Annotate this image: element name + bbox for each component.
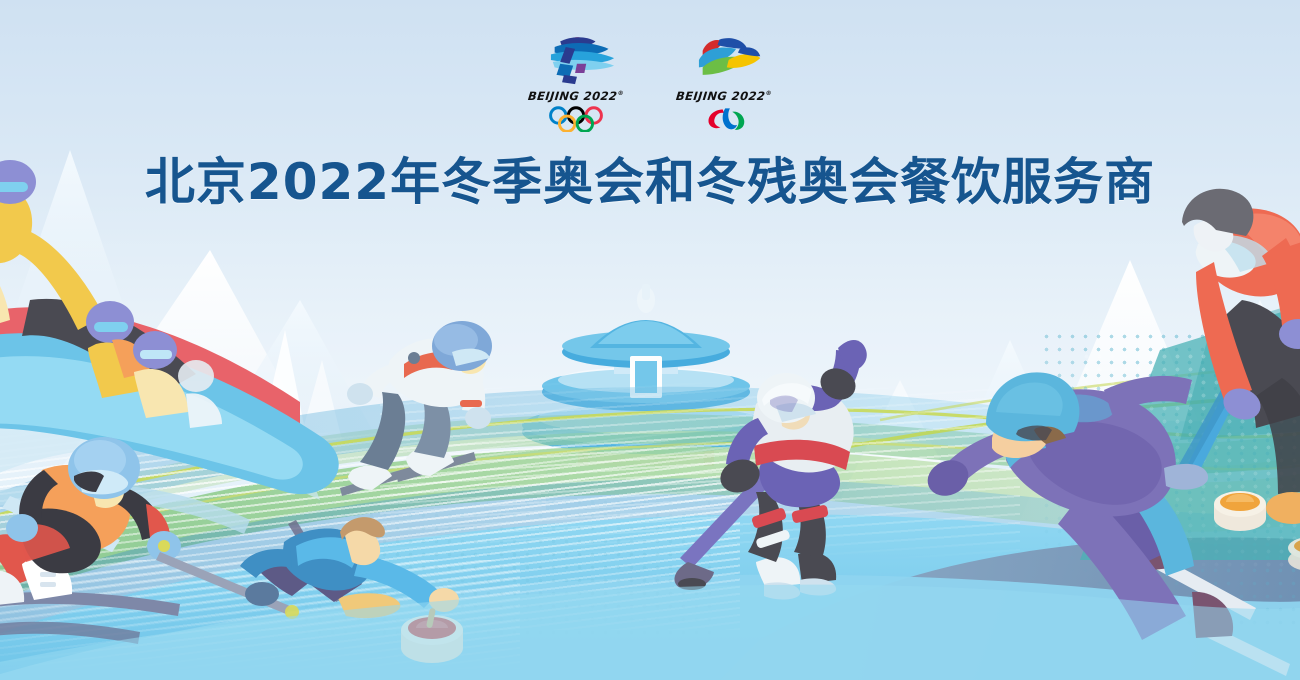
skater-glove-back: [347, 383, 373, 405]
paralympic-agitos-icon: [694, 106, 754, 132]
skater-face: [450, 340, 486, 374]
beijing-2022-paralympic-emblem-icon: [670, 34, 778, 86]
sweeper-face: [1194, 220, 1234, 252]
emblem-row: BEIJING 2022®: [0, 34, 1300, 132]
bobsleigh-rider-3: [133, 331, 188, 418]
halftone-dots-center: [300, 470, 720, 650]
bobsleigh-rail: [0, 307, 300, 430]
sweeper-torso-shade: [1234, 214, 1300, 254]
skater-helmet: [432, 321, 492, 371]
temple-roof-upper: [562, 336, 730, 368]
sweeper-torso: [1198, 208, 1300, 296]
bobsleigh-cockpit: [22, 299, 196, 400]
olympic-rings-icon: [533, 106, 619, 132]
olympic-banner: BEIJING 2022®: [0, 0, 1300, 680]
olympic-emblem-block: BEIJING 2022®: [521, 34, 631, 132]
beijing-2022-olympic-emblem-icon: [522, 34, 630, 86]
mountain-spike-a: [262, 330, 305, 430]
olympic-wordmark: BEIJING 2022®: [527, 89, 624, 103]
skater-stripe: [404, 352, 468, 378]
paralympic-emblem-block: BEIJING 2022®: [669, 34, 779, 132]
temple-dome: [590, 320, 702, 348]
pusher-glove: [93, 312, 123, 336]
bobsleigh-rider-4: [178, 360, 222, 428]
halftone-dots-teal: [1080, 350, 1300, 570]
mountain-spike-b: [300, 360, 342, 440]
hockey-skate-rear: [756, 557, 800, 588]
page-title: 北京2022年冬季奥会和冬残奥会餐饮服务商: [0, 142, 1300, 214]
skater-goggles: [452, 349, 490, 366]
bobsleigh-rider-2: [86, 301, 150, 398]
temple-finial: [637, 287, 655, 313]
paralympic-wordmark: BEIJING 2022®: [675, 89, 772, 103]
sweeper-arm-near: [1262, 238, 1300, 326]
sweeper-shirt: [1196, 240, 1256, 277]
